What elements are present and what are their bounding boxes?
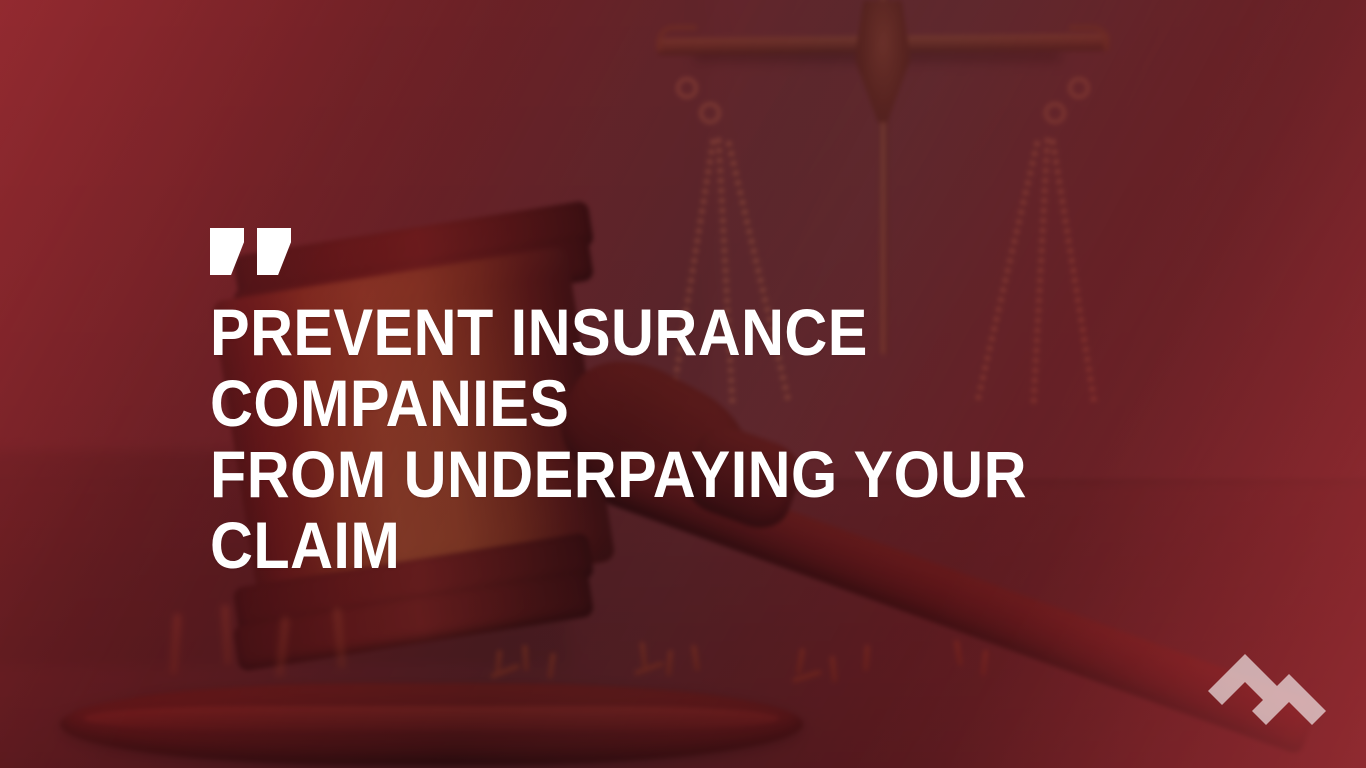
quote-glyph-right: [257, 228, 291, 275]
quote-glyph-left: [210, 228, 244, 275]
chevron-mountain-logo[interactable]: [1208, 648, 1326, 740]
page-title: PREVENT INSURANCE COMPANIES FROM UNDERPA…: [210, 297, 1092, 581]
quotation-mark-icon: [210, 228, 1190, 275]
promotional-banner: PREVENT INSURANCE COMPANIES FROM UNDERPA…: [0, 0, 1366, 768]
banner-content: PREVENT INSURANCE COMPANIES FROM UNDERPA…: [210, 228, 1190, 581]
